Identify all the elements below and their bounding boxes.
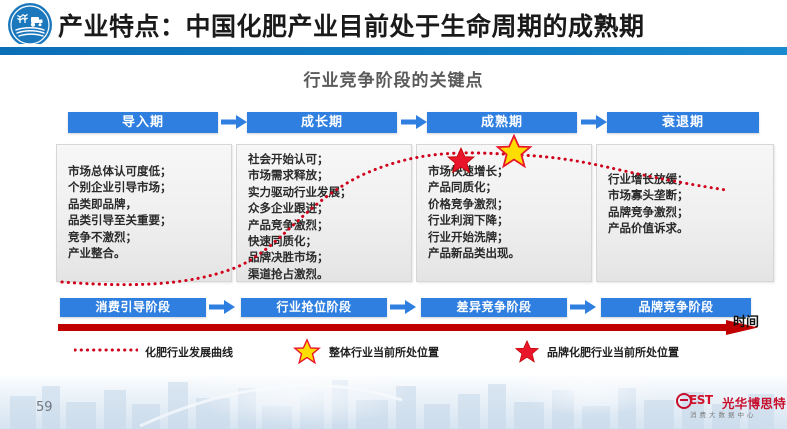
phase-0-point-4: 竞争不激烈； <box>68 229 225 245</box>
agriculture-pin-glyph <box>8 3 52 47</box>
stage-chip-0-label: 消费引导阶段 <box>95 300 170 314</box>
right-arrow-icon-top-2 <box>581 114 607 130</box>
phase-chip-2[interactable]: 成熟期 <box>427 112 577 133</box>
phase-2-point-4: 行业开始洗牌； <box>428 229 585 245</box>
phase-0-point-2: 品类即品牌， <box>68 196 225 212</box>
time-axis-arrow <box>58 320 758 336</box>
stage-chip-1[interactable]: 行业抢位阶段 <box>241 298 387 317</box>
phase-box-3-points: 行业增长放缓； 市场寡头垄断； 品牌竞争激烈； 产品价值诉求。 <box>608 171 767 237</box>
phase-chip-0[interactable]: 导入期 <box>68 112 218 133</box>
phase-box-1-points: 社会开始认可； 市场需求释放； 实力驱动行业发展； 众多企业跟进； 产品竞争激烈… <box>248 151 405 282</box>
slide-body: 行业竞争阶段的关键点 导入期 成长期 成熟期 衰退期 市场总体认可度低； 个别 <box>0 56 787 374</box>
phase-box-2-points: 市场快速增长； 产品同质化； 价格竞争激烈； 行业利润下降； 行业开始洗牌； 产… <box>428 163 585 261</box>
phase-chip-2-label: 成熟期 <box>481 115 523 130</box>
page-title: 产业特点：中国化肥产业目前处于生命周期的成熟期 <box>58 7 645 43</box>
yellow-star-icon-legend <box>293 338 321 366</box>
time-axis-label: 时间 <box>733 311 759 330</box>
phase-0-point-3: 品类引导至关重要； <box>68 212 225 228</box>
page-number: 59 <box>36 400 53 415</box>
stage-chip-2[interactable]: 差异竞争阶段 <box>421 298 567 317</box>
phase-3-point-1: 市场寡头垄断； <box>608 187 767 203</box>
phase-box-2: 市场快速增长； 产品同质化； 价格竞争激烈； 行业利润下降； 行业开始洗牌； 产… <box>416 144 592 282</box>
right-arrow-icon-bottom-0 <box>209 299 235 315</box>
title-rule <box>0 47 787 55</box>
phase-box-3: 行业增长放缓； 市场寡头垄断； 品牌竞争激烈； 产品价值诉求。 <box>596 144 774 282</box>
phase-3-point-0: 行业增长放缓； <box>608 171 767 187</box>
company-logo: EST 光华博思特 消费大数据中心 <box>676 392 778 422</box>
red-star-icon-legend <box>514 339 540 365</box>
slide-footer <box>0 374 787 429</box>
slide-header: 产业特点：中国化肥产业目前处于生命周期的成熟期 <box>0 0 787 56</box>
phase-box-0: 市场总体认可度低； 个别企业引导市场； 品类即品牌， 品类引导至关重要； 竞争不… <box>56 144 232 282</box>
phase-box-1: 社会开始认可； 市场需求释放； 实力驱动行业发展； 众多企业跟进； 产品竞争激烈… <box>236 144 412 282</box>
legend-label-1: 整体行业当前所处位置 <box>329 344 439 360</box>
phase-chip-1-label: 成长期 <box>301 115 343 130</box>
phase-3-point-3: 产品价值诉求。 <box>608 220 767 236</box>
phase-2-point-2: 价格竞争激烈； <box>428 196 585 212</box>
phase-chip-1[interactable]: 成长期 <box>247 112 397 133</box>
dotted-line-icon <box>74 346 138 354</box>
right-arrow-icon-top-1 <box>401 114 427 130</box>
phase-0-point-1: 个别企业引导市场； <box>68 179 225 195</box>
right-arrow-icon-bottom-1 <box>390 299 416 315</box>
legend-label-0: 化肥行业发展曲线 <box>145 344 233 360</box>
logo-tagline: 消费大数据中心 <box>690 409 757 419</box>
stage-chip-3[interactable]: 品牌竞争阶段 <box>601 298 751 317</box>
phase-1-point-0: 社会开始认可； <box>248 151 405 167</box>
phase-box-0-points: 市场总体认可度低； 个别企业引导市场； 品类即品牌， 品类引导至关重要； 竞争不… <box>68 163 225 261</box>
phase-chip-3[interactable]: 衰退期 <box>607 112 759 133</box>
phase-2-point-1: 产品同质化； <box>428 179 585 195</box>
phase-1-point-4: 产品竞争激烈； <box>248 217 405 233</box>
stage-chip-1-label: 行业抢位阶段 <box>276 300 351 314</box>
stage-chip-2-label: 差异竞争阶段 <box>456 300 531 314</box>
phase-3-point-2: 品牌竞争激烈； <box>608 204 767 220</box>
legend-label-2: 品牌化肥行业当前所处位置 <box>547 344 679 360</box>
phase-1-point-2: 实力驱动行业发展； <box>248 184 405 200</box>
phase-2-point-3: 行业利润下降； <box>428 212 585 228</box>
phase-2-point-0: 市场快速增长； <box>428 163 585 179</box>
right-arrow-icon-top-0 <box>221 114 247 130</box>
phase-1-point-3: 众多企业跟进； <box>248 200 405 216</box>
phase-2-point-5: 产品新品类出现。 <box>428 245 585 261</box>
phase-chip-3-label: 衰退期 <box>662 115 704 130</box>
slide-root: 产业特点：中国化肥产业目前处于生命周期的成熟期 行业竞争阶段的关键点 导入期 成… <box>0 0 787 429</box>
stage-chip-0[interactable]: 消费引导阶段 <box>60 298 206 317</box>
phase-chip-0-label: 导入期 <box>122 115 164 130</box>
phase-1-point-5: 快速同质化； <box>248 233 405 249</box>
phase-1-point-6: 品牌决胜市场； <box>248 249 405 265</box>
right-arrow-icon-bottom-2 <box>570 299 596 315</box>
stage-chip-3-label: 品牌竞争阶段 <box>638 300 713 314</box>
city-skyline-decoration <box>0 374 787 429</box>
phase-0-point-5: 产业整合。 <box>68 245 225 261</box>
phase-1-point-1: 市场需求释放； <box>248 167 405 183</box>
section-subtitle: 行业竞争阶段的关键点 <box>0 66 787 91</box>
logo-en-text: EST <box>689 393 713 407</box>
phase-1-point-7: 渠道抢占激烈。 <box>248 266 405 282</box>
phase-0-point-0: 市场总体认可度低； <box>68 163 225 179</box>
